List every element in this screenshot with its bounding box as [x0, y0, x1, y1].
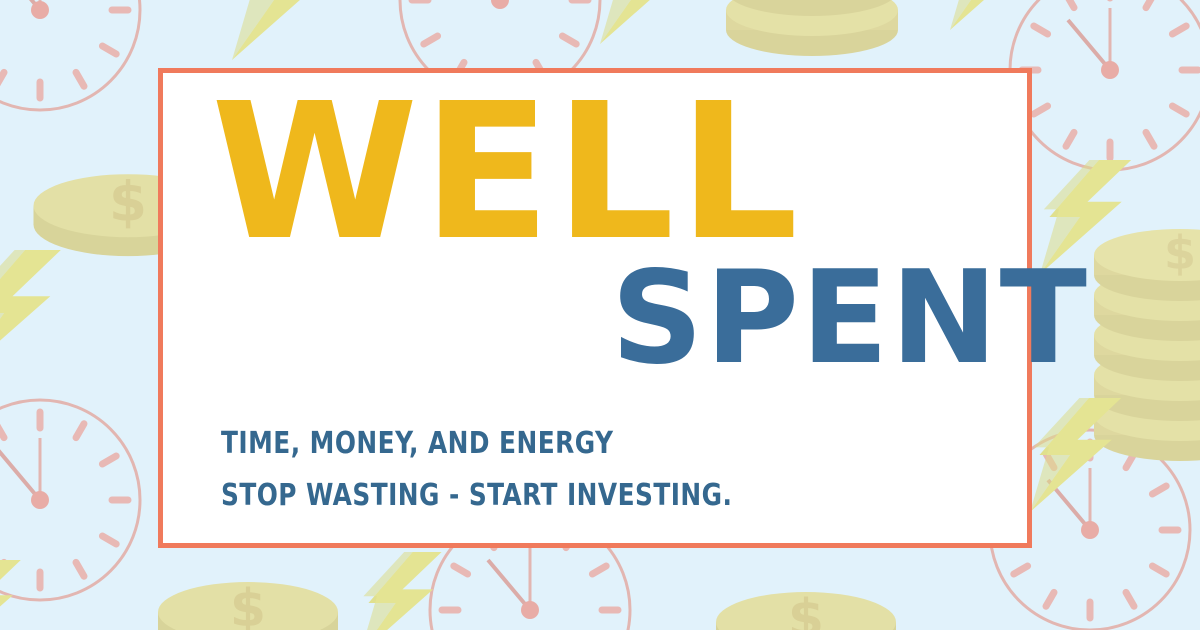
subtitle-line-1: TIME, MONEY, AND ENERGY — [221, 429, 613, 459]
content-card: WELL SPENT TIME, MONEY, AND ENERGY STOP … — [158, 68, 1032, 548]
coin-stack-icon — [1094, 226, 1200, 461]
subtitle-line-2: STOP WASTING - START INVESTING. — [221, 481, 732, 511]
poster-canvas: $ — [0, 0, 1200, 630]
headline-line-2: SPENT — [611, 255, 1089, 383]
coin-stack-icon — [726, 0, 898, 56]
headline-line-1: WELL — [211, 79, 802, 267]
